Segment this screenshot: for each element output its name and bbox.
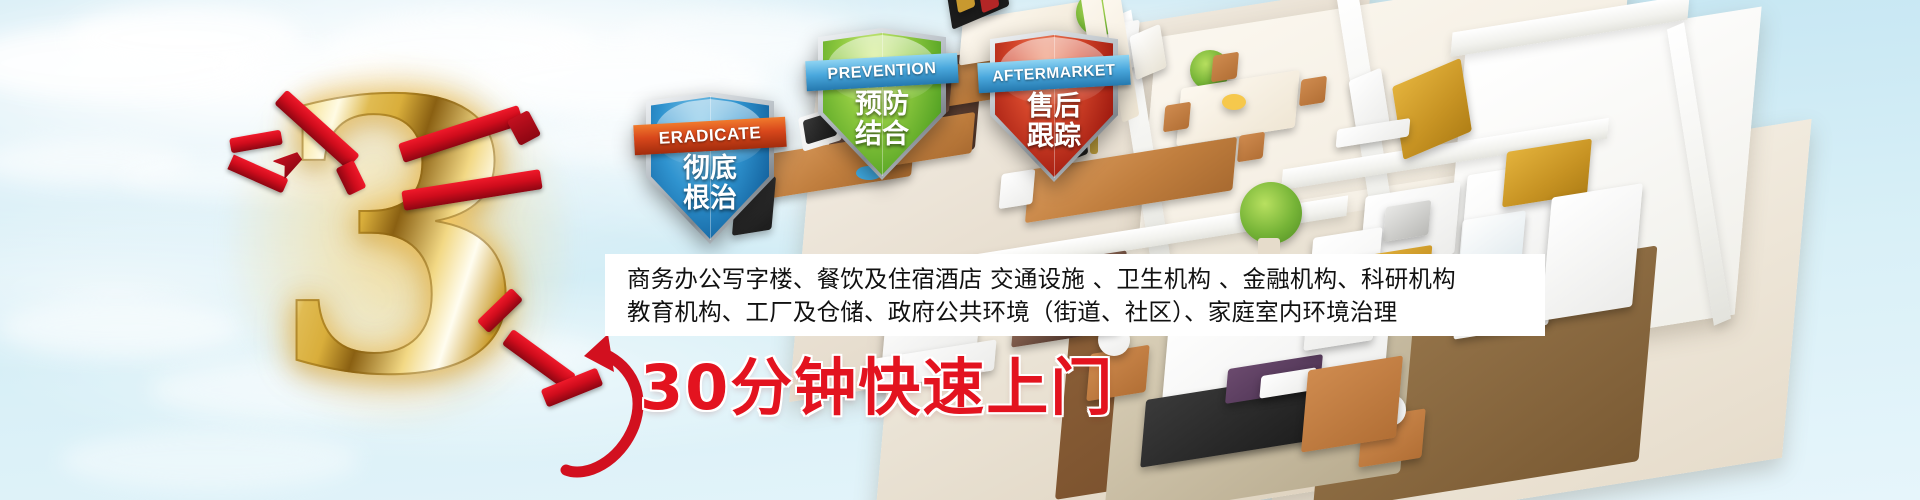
shield-badge-prevention[interactable]: PREVENTION 预防 结合 bbox=[818, 28, 946, 180]
three-digit: 3 bbox=[250, 24, 550, 454]
shield-chinese-text: 售后 跟踪 bbox=[990, 92, 1118, 151]
shield-chinese-text: 预防 结合 bbox=[818, 90, 946, 149]
shield-cn-line2: 结合 bbox=[818, 120, 946, 150]
headline-fast-service: 30分钟快速上门 bbox=[640, 352, 1114, 424]
shield-badge-eradicate[interactable]: ERADICATE 彻底 根治 bbox=[646, 92, 774, 244]
golden-three-graphic: 3 bbox=[250, 78, 550, 408]
service-scope-line-1: 商务办公写字楼、餐饮及住宿酒店 交通设施 、卫生机构 、金融机构、科研机构 bbox=[627, 263, 1545, 296]
shield-cn-line1: 预防 bbox=[818, 90, 946, 120]
shield-cn-line1: 售后 bbox=[990, 92, 1118, 122]
shield-chinese-text: 彻底 根治 bbox=[646, 154, 774, 213]
shield-cn-line2: 根治 bbox=[646, 184, 774, 214]
shield-cn-line1: 彻底 bbox=[646, 154, 774, 184]
service-scope-line-2: 教育机构、工厂及仓储、政府公共环境（街道、社区）、家庭室内环境治理 bbox=[627, 296, 1545, 329]
shield-badge-aftermarket[interactable]: AFTERMARKET 售后 跟踪 bbox=[990, 30, 1118, 182]
promo-banner: 3 ERADICATE 彻底 根治 bbox=[0, 0, 1920, 500]
service-scope-panel: 商务办公写字楼、餐饮及住宿酒店 交通设施 、卫生机构 、金融机构、科研机构 教育… bbox=[605, 254, 1545, 336]
shield-cn-line2: 跟踪 bbox=[990, 122, 1118, 152]
